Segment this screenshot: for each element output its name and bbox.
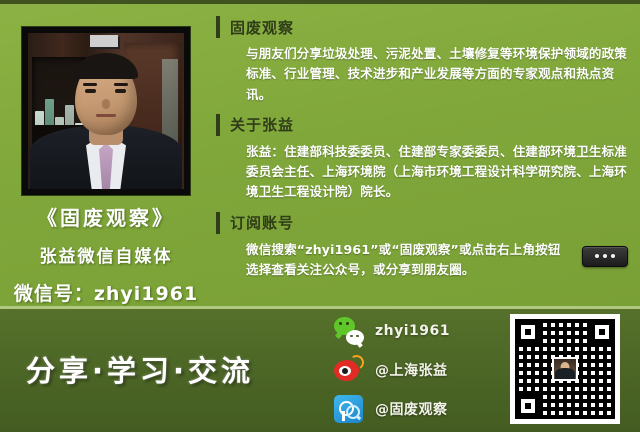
eyebrow-left bbox=[83, 83, 97, 86]
social-row-tencent-weibo[interactable]: @固废观察 bbox=[334, 389, 504, 428]
section-title: 订阅账号 bbox=[230, 212, 294, 233]
section-marker-bar bbox=[216, 114, 220, 136]
account-title: 《固废观察》 bbox=[0, 202, 212, 231]
social-label: zhyi1961 bbox=[375, 323, 450, 339]
account-subtitle: 张益微信自媒体 bbox=[0, 242, 212, 267]
slogan-text: 分享·学习·交流 bbox=[26, 348, 254, 390]
wechat-icon bbox=[334, 316, 364, 346]
mouth bbox=[96, 114, 116, 117]
tencent-weibo-icon bbox=[334, 394, 364, 424]
promo-poster: 《固废观察》 张益微信自媒体 微信号：zhyi1961 固废观察 与朋友们分享垃… bbox=[0, 0, 640, 432]
social-row-wechat[interactable]: zhyi1961 bbox=[334, 311, 504, 350]
section-header: 订阅账号 bbox=[216, 210, 632, 236]
info-sections: 固废观察 与朋友们分享垃圾处理、污泥处置、土壤修复等环境保护领域的政策标准、行业… bbox=[216, 14, 632, 287]
wechat-id-line: 微信号：zhyi1961 bbox=[0, 279, 212, 306]
section-about-zhangyi: 关于张益 张益：住建部科技委委员、住建部专家委委员、住建部环境卫生标准委员会主任… bbox=[216, 112, 632, 203]
wall-box bbox=[90, 35, 118, 47]
section-body: 微信搜索“zhyi1961”或“固废观察”或点击右上角按钮选择查看关注公众号，或… bbox=[246, 240, 632, 281]
qr-pattern bbox=[515, 319, 615, 419]
eye-right bbox=[115, 89, 126, 93]
more-dots-icon[interactable] bbox=[582, 246, 628, 267]
portrait-frame bbox=[22, 27, 190, 195]
social-label: @固废观察 bbox=[375, 399, 448, 419]
left-caption: 《固废观察》 张益微信自媒体 微信号：zhyi1961 bbox=[0, 202, 212, 306]
eye-left bbox=[85, 89, 96, 93]
social-label: @上海张益 bbox=[375, 360, 448, 380]
qr-finder-top-right bbox=[591, 321, 613, 343]
weibo-icon bbox=[334, 355, 364, 385]
section-header: 固废观察 bbox=[216, 14, 632, 40]
section-guanfei-guancha: 固废观察 与朋友们分享垃圾处理、污泥处置、土壤修复等环境保护领域的政策标准、行业… bbox=[216, 14, 632, 105]
portrait-photo bbox=[28, 33, 184, 189]
section-subscribe: 订阅账号 微信搜索“zhyi1961”或“固废观察”或点击右上角按钮选择查看关注… bbox=[216, 210, 632, 281]
nose bbox=[102, 99, 110, 109]
section-body: 与朋友们分享垃圾处理、污泥处置、土壤修复等环境保护领域的政策标准、行业管理、技术… bbox=[246, 44, 632, 105]
section-body: 张益：住建部科技委委员、住建部专家委委员、住建部环境卫生标准委员会主任、上海环境… bbox=[246, 142, 632, 203]
social-list: zhyi1961 @上海张益 @固废观察 bbox=[334, 311, 504, 428]
eyebrow-right bbox=[114, 83, 128, 86]
wechat-qr-code[interactable] bbox=[510, 314, 620, 424]
social-row-weibo[interactable]: @上海张益 bbox=[334, 350, 504, 389]
section-marker-bar bbox=[216, 212, 220, 234]
qr-finder-bottom-left bbox=[517, 395, 539, 417]
section-header: 关于张益 bbox=[216, 112, 632, 138]
section-title: 关于张益 bbox=[230, 114, 294, 135]
section-marker-bar bbox=[216, 16, 220, 38]
section-title: 固废观察 bbox=[230, 17, 294, 38]
qr-finder-top-left bbox=[517, 321, 539, 343]
qr-center-avatar bbox=[552, 357, 578, 381]
